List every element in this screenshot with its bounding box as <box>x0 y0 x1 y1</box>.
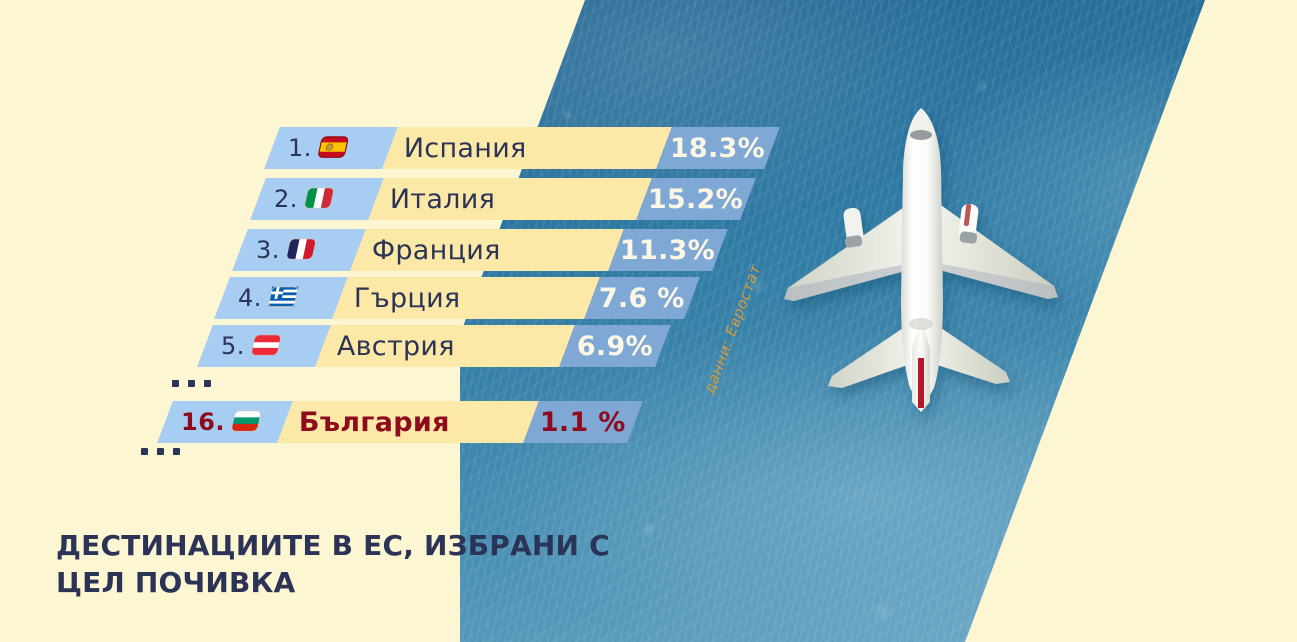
country-name-block: Франция <box>350 229 624 271</box>
list-item[interactable]: 4. <box>214 277 700 319</box>
rank-number: 5. <box>221 332 245 360</box>
country-name-block: Италия <box>368 178 652 220</box>
rank-block: 5. <box>197 325 331 367</box>
percentage-value: 6.9% <box>577 331 653 362</box>
list-item-highlighted[interactable]: 16. България <box>157 401 643 443</box>
flag-italy-icon <box>304 185 338 213</box>
rank-number: 4. <box>238 284 262 312</box>
rank-number: 3. <box>256 236 280 264</box>
flag-austria-icon <box>251 332 285 360</box>
ellipsis-dot <box>172 380 179 387</box>
rank-block: 2. <box>250 178 384 220</box>
rank-block: 16. <box>157 401 293 443</box>
percentage-badge: 1.1 % <box>523 401 643 443</box>
list-item[interactable]: 5. Австрия <box>197 325 671 367</box>
percentage-badge: 11.3% <box>608 229 728 271</box>
country-name-block: България <box>277 401 539 443</box>
ellipsis-dot <box>204 380 211 387</box>
flag-bulgaria-icon <box>231 408 265 436</box>
flag-france-icon <box>286 236 320 264</box>
list-item[interactable]: 1. Испания <box>264 127 780 169</box>
ellipsis-top <box>172 380 211 387</box>
rank-block: 4. <box>214 277 348 319</box>
flag-greece-icon <box>268 284 302 312</box>
percentage-badge: 7.6 % <box>584 277 700 319</box>
infographic-canvas: 1. Испания <box>0 0 1297 642</box>
country-label: България <box>299 407 450 438</box>
percentage-value: 7.6 % <box>599 283 685 314</box>
list-item[interactable]: 3. Франция <box>232 229 728 271</box>
country-label: Испания <box>404 133 527 164</box>
percentage-value: 15.2% <box>648 184 743 215</box>
percentage-value: 18.3% <box>670 133 765 164</box>
ellipsis-dot <box>173 448 180 455</box>
rank-number: 1. <box>288 134 312 162</box>
country-name-block: Гърция <box>332 277 600 319</box>
rank-block: 1. <box>264 127 398 169</box>
percentage-value: 11.3% <box>620 235 715 266</box>
flag-spain-icon <box>318 134 352 162</box>
page-title: ДЕСТИНАЦИИТЕ В ЕС, ИЗБРАНИ С ЦЕЛ ПОЧИВКА <box>56 527 676 601</box>
rank-block: 3. <box>232 229 366 271</box>
list-item[interactable]: 2. Италия <box>250 178 756 220</box>
percentage-badge: 15.2% <box>636 178 756 220</box>
country-name-block: Австрия <box>315 325 575 367</box>
rank-number: 16. <box>181 408 225 436</box>
ellipsis-dot <box>188 380 195 387</box>
percentage-value: 1.1 % <box>540 407 626 438</box>
country-label: Австрия <box>337 331 455 362</box>
ellipsis-bottom <box>141 448 180 455</box>
ranking-list: 1. Испания <box>0 0 860 470</box>
country-label: Гърция <box>354 283 461 314</box>
country-name-block: Испания <box>382 127 672 169</box>
percentage-badge: 18.3% <box>656 127 780 169</box>
ellipsis-dot <box>157 448 164 455</box>
country-label: Италия <box>390 184 495 215</box>
rank-number: 2. <box>274 185 298 213</box>
percentage-badge: 6.9% <box>559 325 671 367</box>
ellipsis-dot <box>141 448 148 455</box>
country-label: Франция <box>372 235 501 266</box>
